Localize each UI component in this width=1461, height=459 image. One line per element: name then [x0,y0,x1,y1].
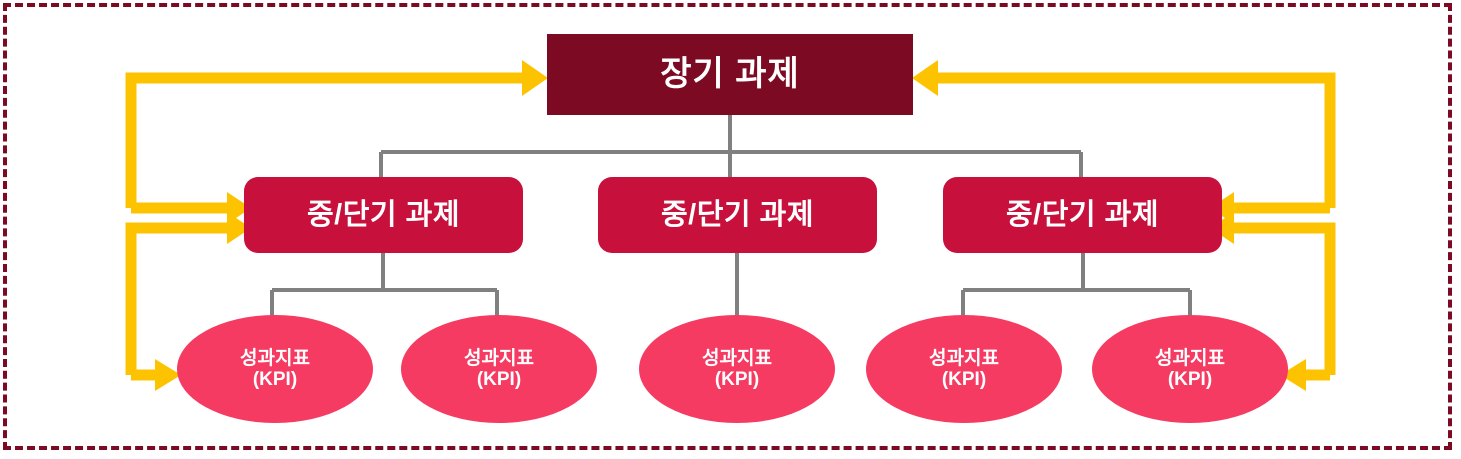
node-kpi-3-label-line1: 성과지표 [702,348,772,369]
node-kpi-5[interactable]: 성과지표 (KPI) [1092,315,1288,423]
node-kpi-4[interactable]: 성과지표 (KPI) [866,315,1062,423]
diagram-canvas: 장기 과제 중/단기 과제 중/단기 과제 중/단기 과제 성과지표 (KPI)… [0,0,1461,459]
node-kpi-4-label-line2: (KPI) [942,369,986,390]
node-task-3[interactable]: 중/단기 과제 [943,177,1222,253]
node-task-2[interactable]: 중/단기 과제 [598,177,877,253]
node-long-term-goal[interactable]: 장기 과제 [547,34,913,115]
node-kpi-2[interactable]: 성과지표 (KPI) [401,315,597,423]
tree-connectors-task3-to-kpis [963,252,1190,318]
node-kpi-1-label-line2: (KPI) [253,369,297,390]
node-long-term-goal-label: 장기 과제 [660,55,800,93]
arrowhead-goal-right [912,60,938,96]
node-kpi-1-label-line1: 성과지표 [240,348,310,369]
node-kpi-2-label-line1: 성과지표 [464,348,534,369]
node-kpi-2-label-line2: (KPI) [477,369,521,390]
node-task-2-label: 중/단기 과제 [661,199,814,231]
tree-connectors-task1-to-kpis [272,252,497,318]
node-kpi-5-label-line1: 성과지표 [1155,348,1225,369]
node-kpi-4-label-line1: 성과지표 [929,348,999,369]
node-kpi-3-label-line2: (KPI) [715,369,759,390]
node-kpi-5-label-line2: (KPI) [1168,369,1212,390]
tree-connectors-goal-to-tasks [381,115,1081,177]
node-task-1-label: 중/단기 과제 [307,199,460,231]
node-task-1[interactable]: 중/단기 과제 [244,177,523,253]
arrowhead-goal-left [522,60,548,96]
node-task-3-label: 중/단기 과제 [1006,199,1159,231]
node-kpi-3[interactable]: 성과지표 (KPI) [639,315,835,423]
node-kpi-1[interactable]: 성과지표 (KPI) [177,315,373,423]
